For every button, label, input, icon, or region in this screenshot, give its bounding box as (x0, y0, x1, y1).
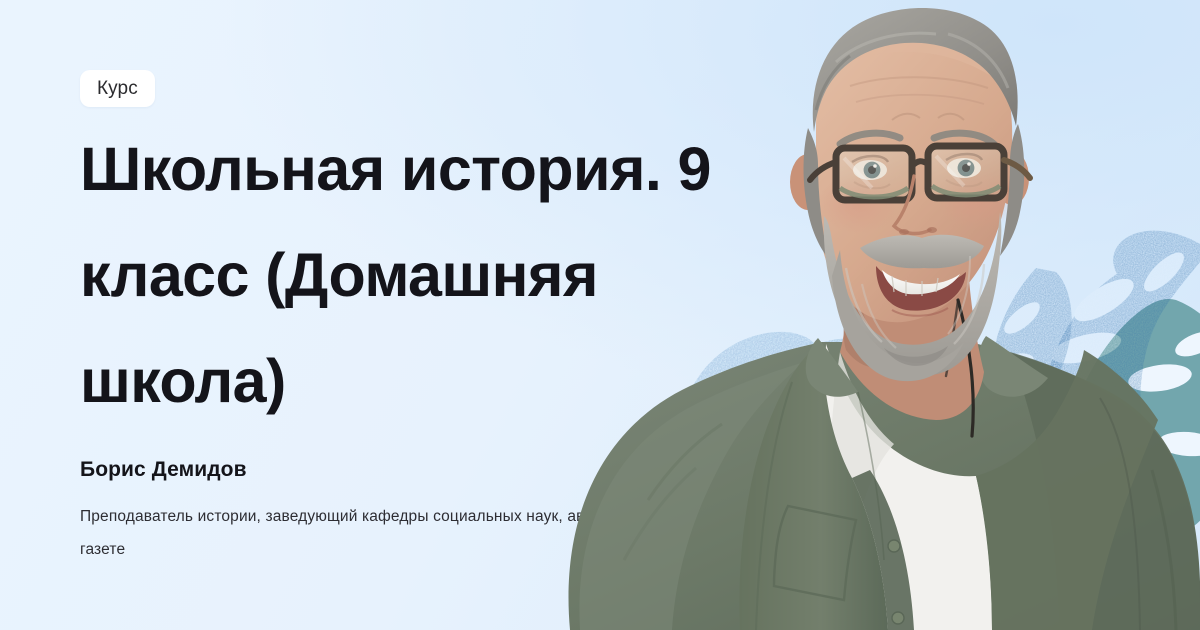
mouth (876, 266, 966, 316)
neck (840, 258, 984, 420)
author-bio: Преподаватель истории, заведующий кафедр… (80, 500, 780, 566)
eyes (852, 154, 982, 188)
monstera-leaf-blue (1039, 231, 1200, 571)
necklace (946, 300, 973, 436)
card-content: Курс Школьная история. 9 класс (Домашняя… (80, 0, 840, 630)
monstera-leaf-teal (1062, 299, 1200, 550)
course-promo-card: Курс Школьная история. 9 класс (Домашняя… (0, 0, 1200, 630)
author-name: Борис Демидов (80, 456, 247, 484)
course-title: Школьная история. 9 класс (Домашняя школ… (80, 116, 780, 434)
glasses (810, 146, 1030, 200)
beard (824, 212, 1002, 381)
monstera-leaf-blue-behind-head (992, 268, 1072, 412)
course-type-badge: Курс (80, 70, 155, 107)
